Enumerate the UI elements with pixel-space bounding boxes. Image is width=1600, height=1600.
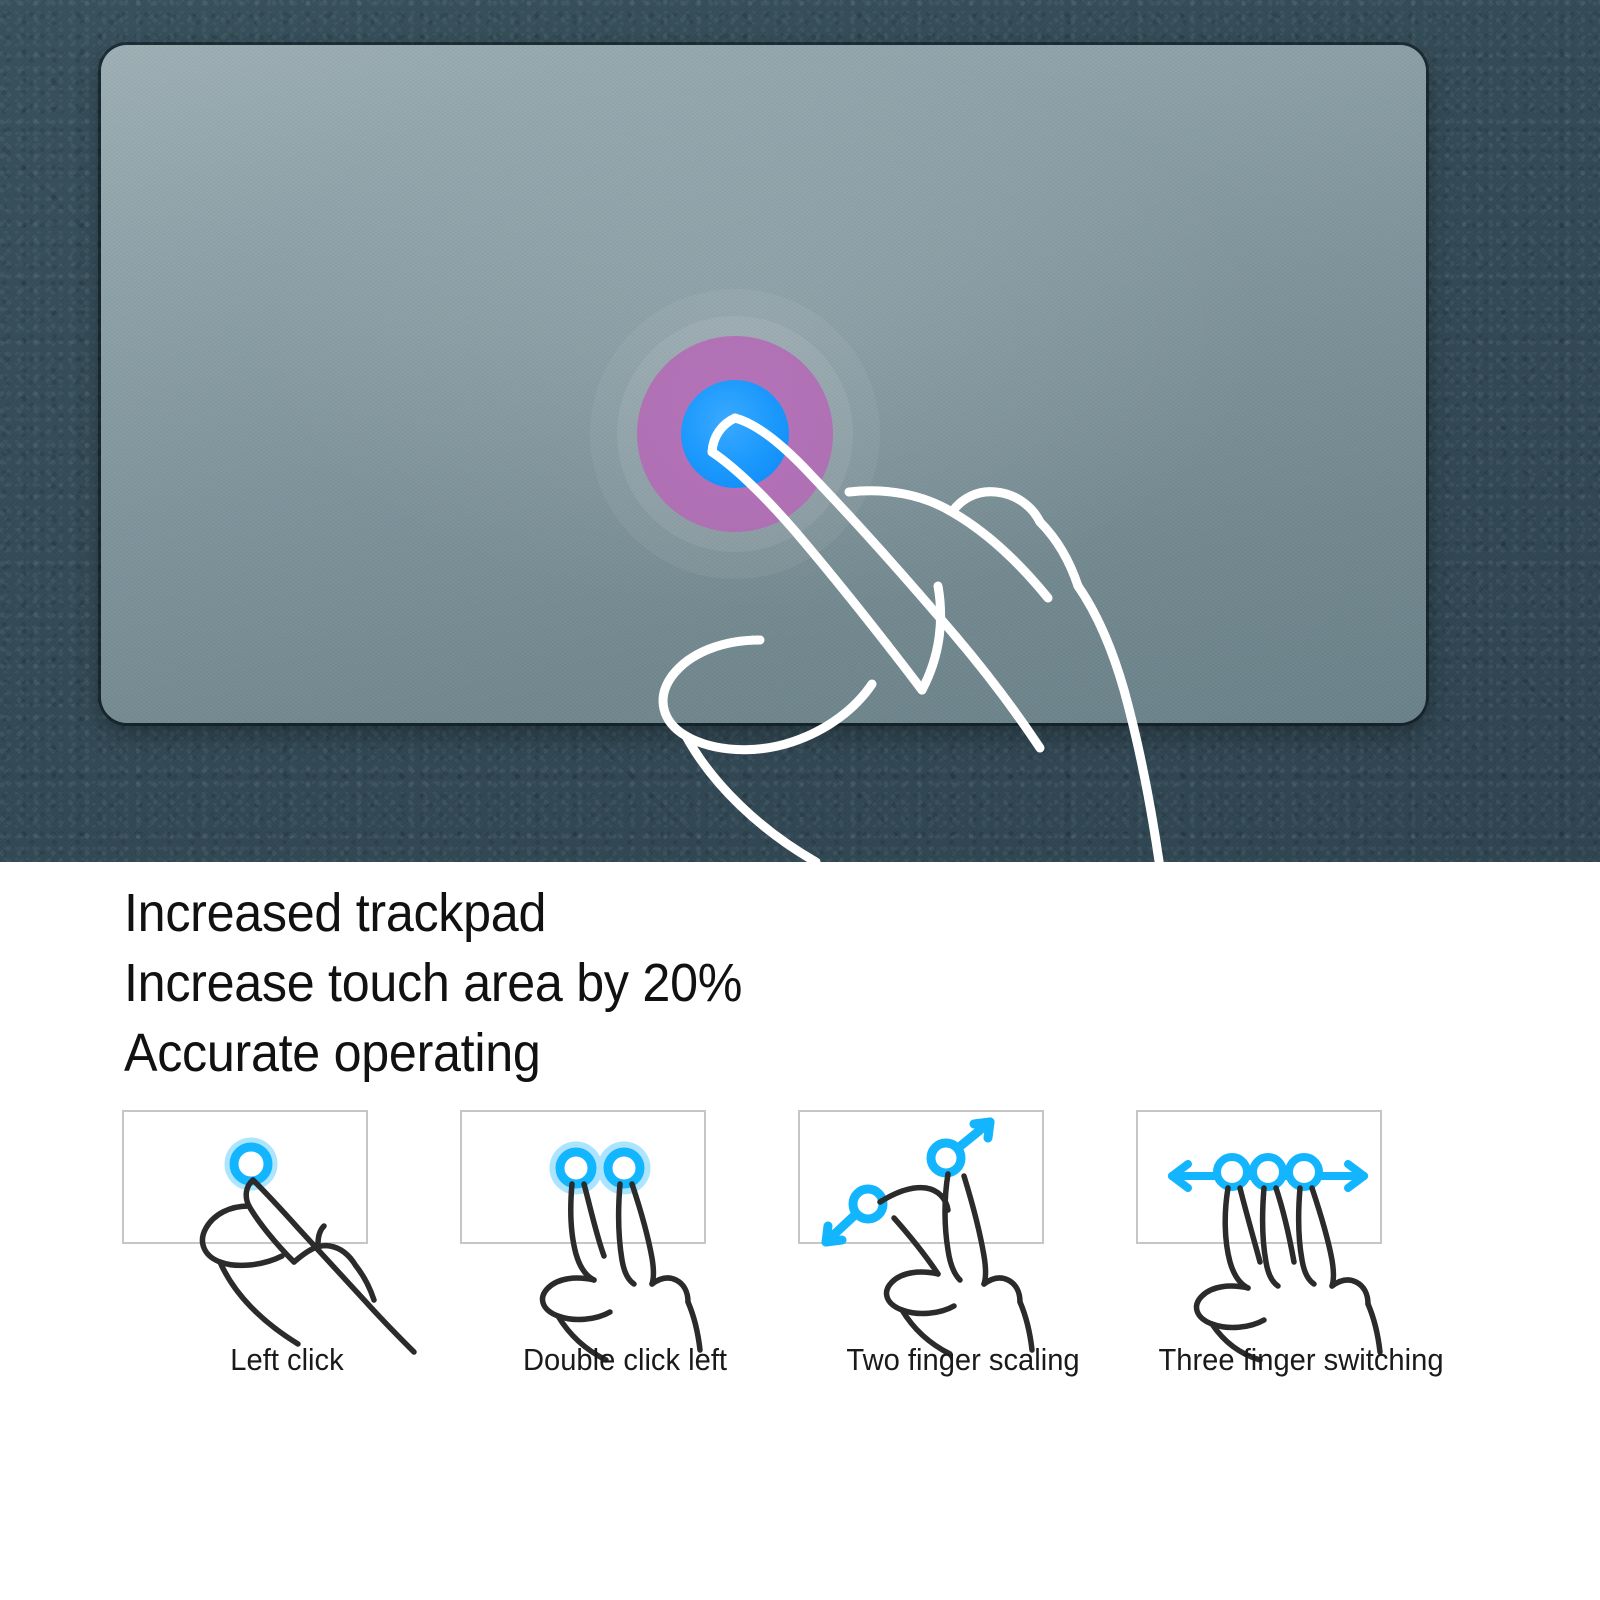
one-finger-tap-icon <box>122 1110 452 1360</box>
marketing-copy-section: Increased trackpad Increase touch area b… <box>0 862 1600 1600</box>
headline-line-2: Increase touch area by 20% <box>124 948 742 1018</box>
two-finger-pinch-icon <box>798 1110 1128 1360</box>
headline-line-1: Increased trackpad <box>124 878 742 948</box>
gesture-label: Double click left <box>470 1342 780 1378</box>
three-finger-swipe-icon <box>1136 1110 1466 1360</box>
gesture-label: Two finger scaling <box>808 1342 1118 1378</box>
gesture-label: Three finger switching <box>1146 1342 1456 1378</box>
headline-block: Increased trackpad Increase touch area b… <box>124 878 789 1088</box>
gesture-label: Left click <box>132 1342 442 1378</box>
headline-line-3: Accurate operating <box>124 1018 742 1088</box>
product-photo <box>0 0 1600 862</box>
two-finger-tap-icon <box>460 1110 790 1360</box>
touch-core-blue <box>681 380 789 488</box>
